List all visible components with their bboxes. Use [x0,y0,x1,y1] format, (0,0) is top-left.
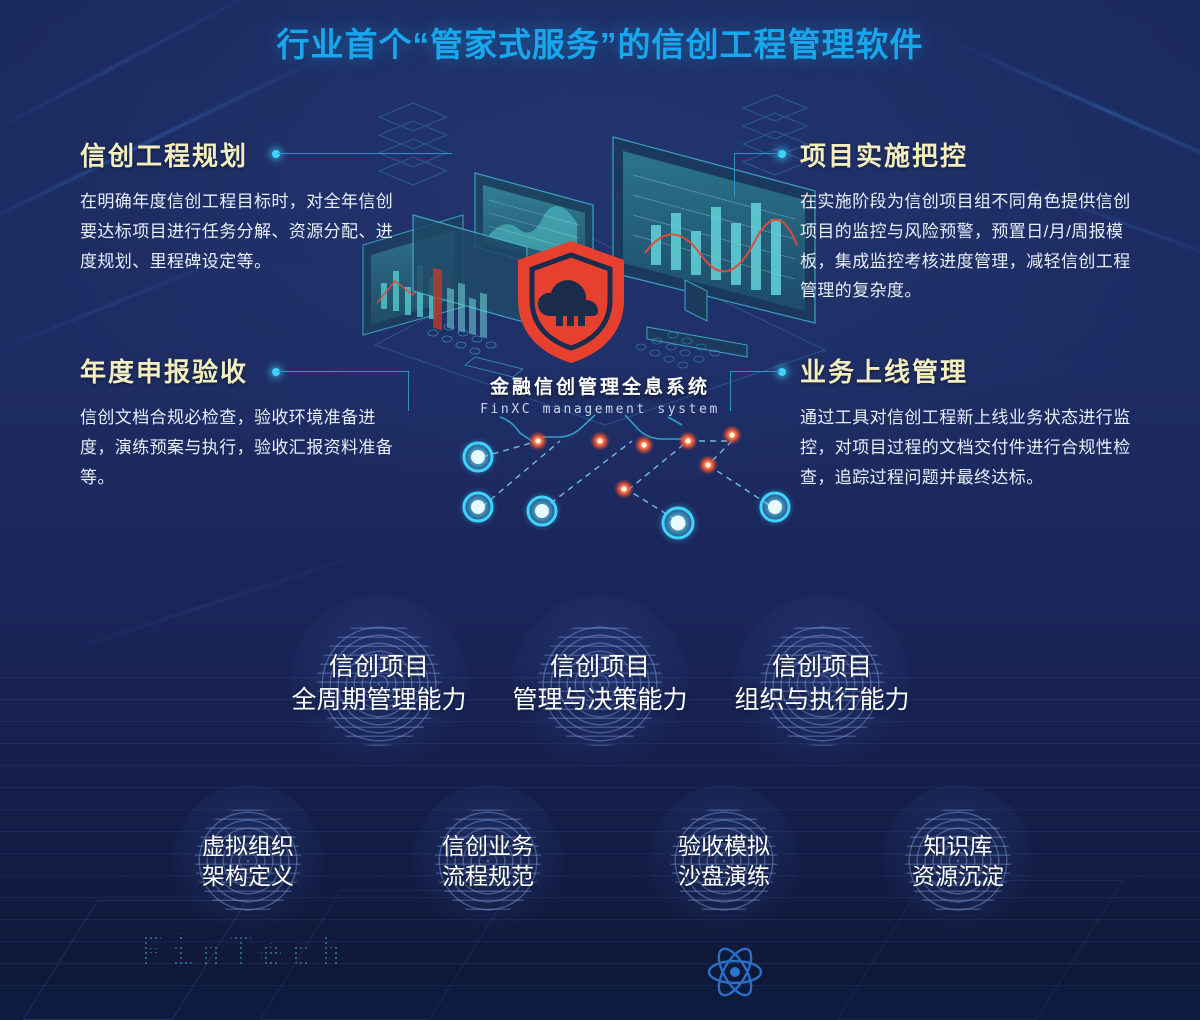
circle-line-1: 信创项目 [550,651,650,684]
circle-line-1: 知识库 [924,831,993,861]
feature-body: 信创文档合规必检查，验收环境准备进度，演练预案与执行，验收汇报资料准备等。 [80,403,410,492]
circle-line-2: 沙盘演练 [678,861,770,891]
circle-line-2: 资源沉淀 [912,861,1004,891]
feature-circle-knowledge-base[interactable]: 知识库 资源沉淀 [882,785,1034,937]
feature-circle-process-spec[interactable]: 信创业务 流程规范 [412,785,564,937]
feature-body: 在实施阶段为信创项目组不同角色提供信创项目的监控与风险预警，预置日/月/周报模板… [800,187,1140,306]
circle-line-2: 流程规范 [442,861,534,891]
feature-block-acceptance: 年度申报验收 信创文档合规必检查，验收环境准备进度，演练预案与执行，验收汇报资料… [80,352,410,492]
feature-block-implementation: 项目实施把控 在实施阶段为信创项目组不同角色提供信创项目的监控与风险预警，预置日… [800,136,1140,306]
circle-line-1: 信创项目 [329,651,429,684]
circle-line-1: 信创业务 [442,831,534,861]
circle-line-1: 信创项目 [772,651,872,684]
capability-circle-lifecycle[interactable]: 信创项目 全周期管理能力 [290,595,468,773]
fintech-watermark: FinTech [140,930,349,974]
circle-line-2: 全周期管理能力 [291,684,466,717]
circle-line-2: 组织与执行能力 [734,684,909,717]
circle-line-1: 虚拟组织 [202,831,294,861]
feature-body: 通过工具对信创工程新上线业务状态进行监控，对项目过程的文档交付件进行合规性检查，… [800,403,1140,492]
circle-line-2: 架构定义 [202,861,294,891]
circle-line-1: 验收模拟 [678,831,770,861]
feature-heading: 年度申报验收 [80,352,410,389]
capability-circle-decision[interactable]: 信创项目 管理与决策能力 [511,595,689,773]
feature-circle-virtual-org[interactable]: 虚拟组织 架构定义 [172,785,324,937]
feature-heading: 信创工程规划 [80,136,410,173]
atom-icon [700,938,770,998]
feature-heading: 项目实施把控 [800,136,1140,173]
feature-block-golive: 业务上线管理 通过工具对信创工程新上线业务状态进行监控，对项目过程的文档交付件进… [800,352,1140,492]
page-title: 行业首个“管家式服务”的信创工程管理软件 [0,18,1200,66]
feature-circle-sandbox-drill[interactable]: 验收模拟 沙盘演练 [648,785,800,937]
feature-heading: 业务上线管理 [800,352,1140,389]
circle-line-2: 管理与决策能力 [512,684,687,717]
node-network-diagram [420,415,820,550]
feature-body: 在明确年度信创工程目标时，对全年信创要达标项目进行任务分解、资源分配、进度规划、… [80,187,410,276]
capability-circle-execution[interactable]: 信创项目 组织与执行能力 [733,595,911,773]
feature-block-planning: 信创工程规划 在明确年度信创工程目标时，对全年信创要达标项目进行任务分解、资源分… [80,136,410,276]
shield-cloud-chart-icon [512,238,630,366]
